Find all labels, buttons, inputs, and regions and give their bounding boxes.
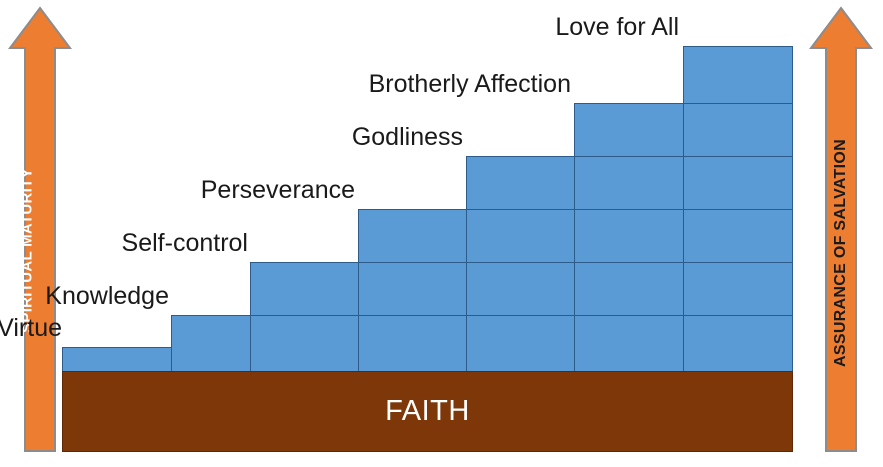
foundation-block: FAITH — [62, 371, 793, 452]
step-block — [683, 262, 793, 316]
step-block — [574, 315, 684, 372]
step-block — [250, 262, 359, 316]
step-block — [574, 156, 684, 210]
step-block — [574, 209, 684, 263]
step-label-perseverance: Perseverance — [136, 178, 355, 203]
step-label-brotherly-affection: Brotherly Affection — [352, 72, 571, 97]
step-block — [683, 315, 793, 372]
step-block — [358, 262, 467, 316]
step-block — [466, 156, 575, 210]
step-block — [574, 103, 684, 157]
diagram-canvas: SPIRITUAL MATURITY ASSURANCE OF SALVATIO… — [0, 0, 883, 467]
step-block — [683, 46, 793, 104]
step-block — [683, 209, 793, 263]
assurance-of-salvation-label: ASSURANCE OF SALVATION — [832, 133, 850, 373]
step-label-love-for-all: Love for All — [460, 15, 679, 40]
step-block — [62, 347, 172, 372]
step-block — [358, 209, 467, 263]
step-block — [466, 315, 575, 372]
step-block — [358, 315, 467, 372]
step-block — [683, 103, 793, 157]
step-block — [574, 262, 684, 316]
step-label-virtue: Virtue — [0, 316, 62, 341]
step-block — [466, 262, 575, 316]
step-label-godliness: Godliness — [244, 125, 463, 150]
step-block — [683, 156, 793, 210]
step-label-self-control: Self-control — [30, 231, 248, 256]
foundation-label: FAITH — [385, 395, 470, 428]
assurance-of-salvation-arrow: ASSURANCE OF SALVATION — [809, 4, 873, 454]
step-block — [466, 209, 575, 263]
step-block — [250, 315, 359, 372]
step-label-knowledge: Knowledge — [0, 284, 169, 309]
